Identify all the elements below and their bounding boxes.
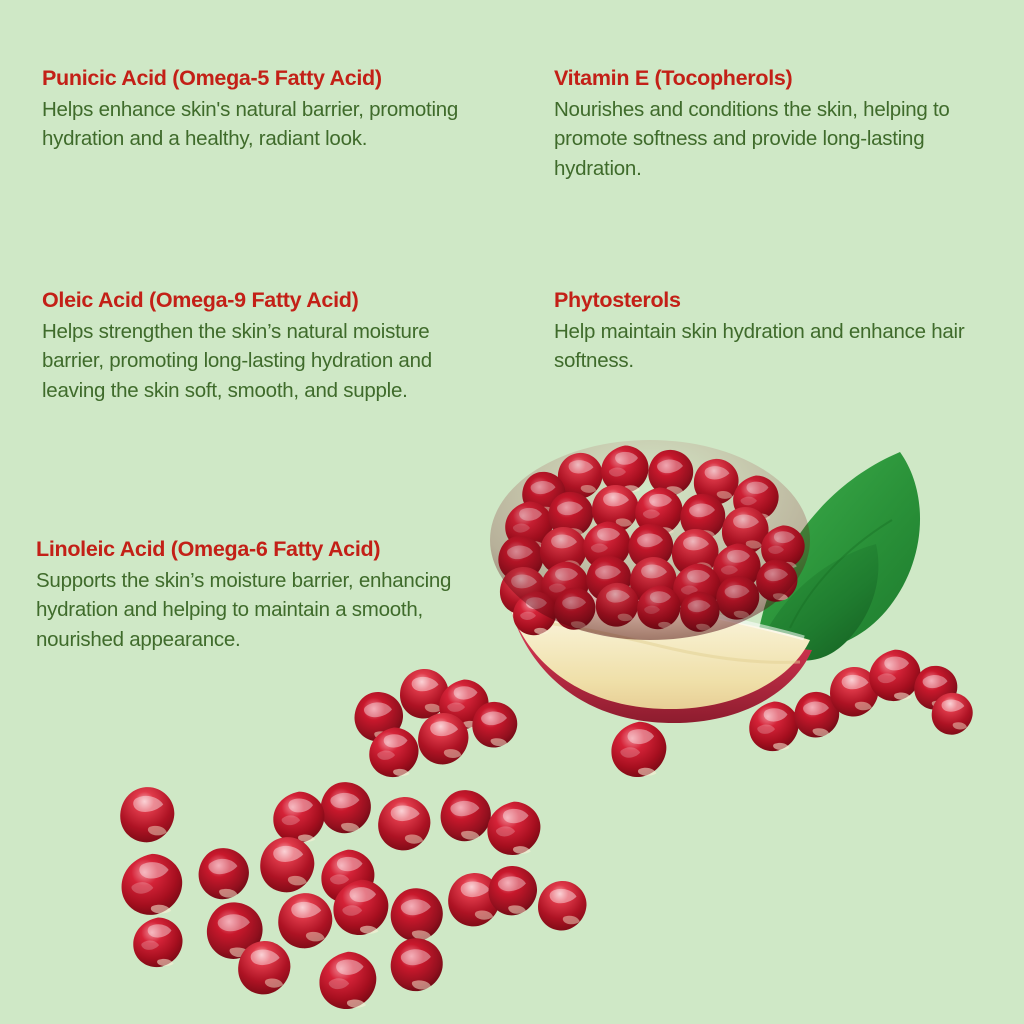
leaf-group	[757, 452, 920, 661]
benefit-body: Helps strengthen the skin’s natural mois…	[42, 317, 482, 404]
benefit-title: Phytosterols	[554, 288, 984, 313]
benefit-block-vitamin-e: Vitamin E (Tocopherols) Nourishes and co…	[554, 66, 984, 183]
infographic-page: Punicic Acid (Omega-5 Fatty Acid) Helps …	[0, 0, 1024, 1024]
benefit-block-phytosterols: Phytosterols Help maintain skin hydratio…	[554, 288, 984, 376]
benefit-body: Help maintain skin hydration and enhance…	[554, 317, 984, 375]
benefit-body: Nourishes and conditions the skin, helpi…	[554, 95, 984, 182]
benefit-title: Linoleic Acid (Omega-6 Fatty Acid)	[36, 537, 491, 562]
benefit-title: Vitamin E (Tocopherols)	[554, 66, 984, 91]
wedge-aril-crown	[490, 440, 810, 640]
scattered-arils	[120, 650, 973, 1009]
pomegranate-wedge	[505, 588, 812, 723]
benefit-title: Oleic Acid (Omega-9 Fatty Acid)	[42, 288, 482, 313]
benefit-body: Supports the skin’s moisture barrier, en…	[36, 566, 491, 653]
benefit-body: Helps enhance skin's natural barrier, pr…	[42, 95, 492, 153]
benefit-block-oleic-acid: Oleic Acid (Omega-9 Fatty Acid) Helps st…	[42, 288, 482, 405]
benefit-title: Punicic Acid (Omega-5 Fatty Acid)	[42, 66, 492, 91]
benefit-block-punicic-acid: Punicic Acid (Omega-5 Fatty Acid) Helps …	[42, 66, 492, 154]
benefit-block-linoleic-acid: Linoleic Acid (Omega-6 Fatty Acid) Suppo…	[36, 537, 491, 654]
